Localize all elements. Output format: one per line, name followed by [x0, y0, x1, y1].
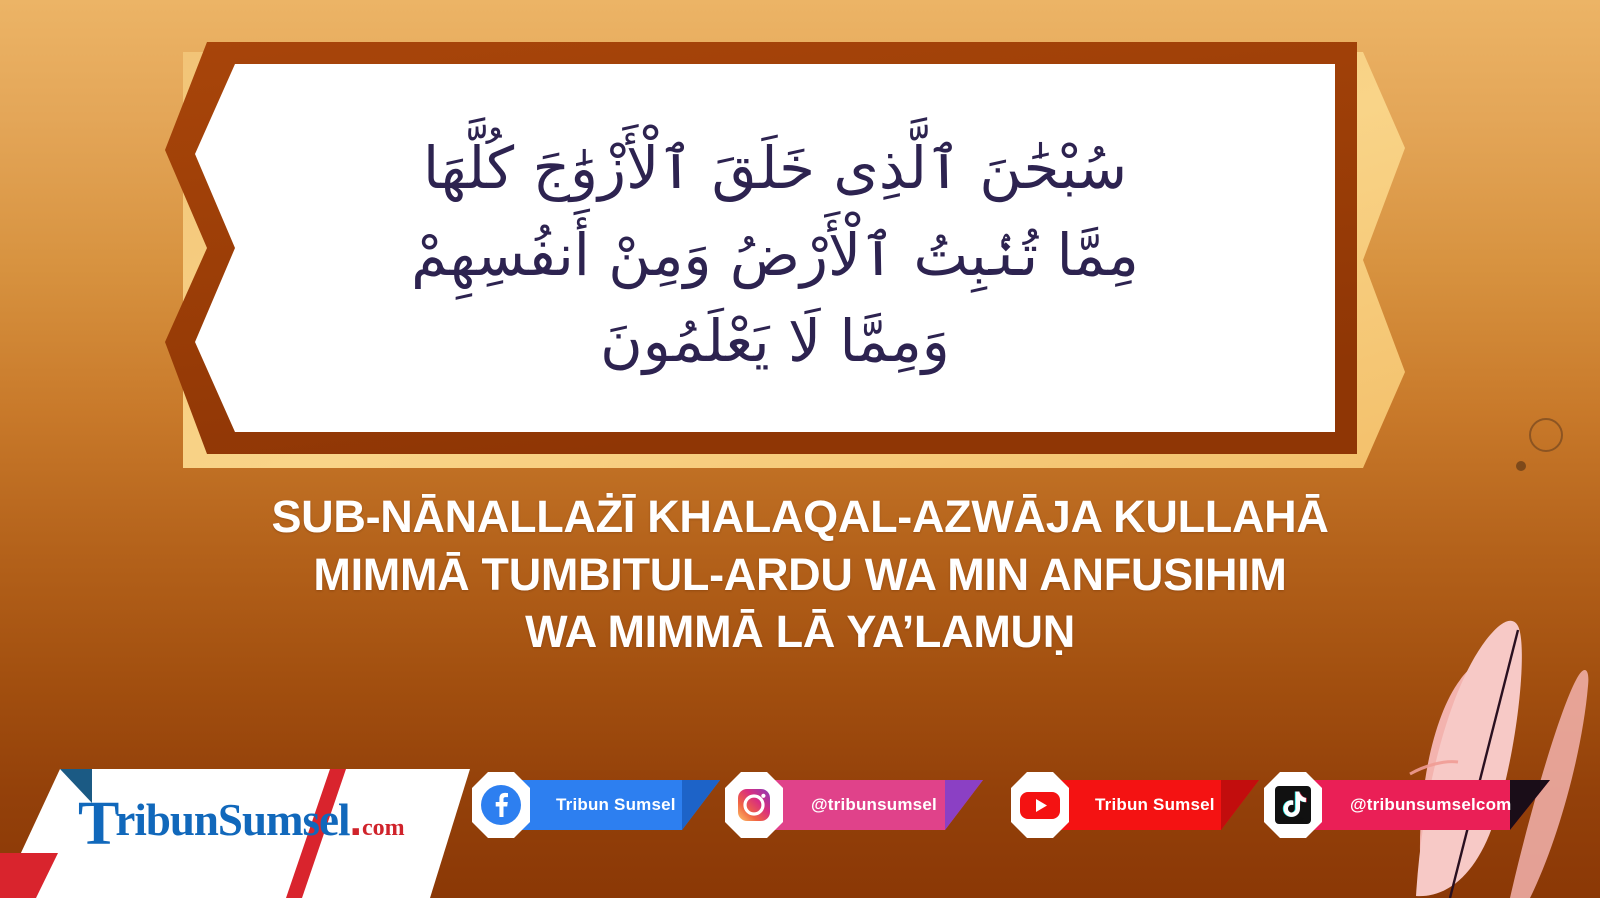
logo-word-one: ribun: [115, 798, 218, 843]
transliteration-line-1: SUB-NĀNALLAŻĪ KHALAQAL-AZWĀJA KULLAHĀ: [0, 488, 1600, 546]
transliteration-block: SUB-NĀNALLAŻĪ KHALAQAL-AZWĀJA KULLAHĀ MI…: [0, 488, 1600, 661]
social-badge-facebook[interactable]: Tribun Sumsel: [470, 770, 720, 840]
tiktok-caption: TikTok: [1282, 818, 1304, 825]
facebook-icon[interactable]: [470, 770, 532, 840]
ayah-arabic-block: سُبْحَٰنَ ٱلَّذِى خَلَقَ ٱلْأَزْوَٰجَ كُ…: [225, 60, 1325, 450]
ayah-frame: سُبْحَٰنَ ٱلَّذِى خَلَقَ ٱلْأَزْوَٰجَ كُ…: [165, 42, 1405, 462]
logo-suffix: com: [362, 815, 405, 842]
ayah-line-1: سُبْحَٰنَ ٱلَّذِى خَلَقَ ٱلْأَزْوَٰجَ كُ…: [423, 127, 1127, 209]
decorative-circle-outline: [1529, 418, 1563, 452]
instagram-label: @tribunsumsel: [811, 795, 937, 815]
tiktok-label: @tribunsumselcom: [1350, 795, 1511, 815]
ayah-line-2: مِمَّا تُنۢبِتُ ٱلْأَرْضُ وَمِنْ أَنفُسِ…: [411, 214, 1139, 296]
tiktok-icon[interactable]: TikTok: [1262, 770, 1324, 840]
facebook-label: Tribun Sumsel: [556, 795, 676, 815]
ayah-line-3: وَمِمَّا لَا يَعْلَمُونَ: [600, 300, 950, 382]
decorative-dot: [1516, 461, 1526, 471]
instagram-icon[interactable]: [723, 770, 785, 840]
social-badge-youtube[interactable]: Tribun Sumsel: [1009, 770, 1259, 840]
social-badges: Tribun Sumsel @tribunsumsel: [470, 770, 1550, 852]
transliteration-line-2: MIMMĀ TUMBITUL-ARDU WA MIN ANFUSIHIM: [0, 546, 1600, 604]
youtube-icon[interactable]: [1009, 770, 1071, 840]
poster-canvas: سُبْحَٰنَ ٱلَّذِى خَلَقَ ٱلْأَزْوَٰجَ كُ…: [0, 0, 1600, 898]
logo-word-two: Sumsel: [218, 798, 350, 843]
logo-dot: .: [349, 794, 362, 846]
logo-drop-cap: T: [78, 800, 119, 850]
social-badge-instagram[interactable]: @tribunsumsel: [723, 770, 983, 840]
transliteration-line-3: WA MIMMĀ LĀ YA’LAMUṆ: [0, 603, 1600, 661]
social-badge-tiktok[interactable]: @tribunsumselcom TikTok: [1262, 770, 1550, 840]
youtube-label: Tribun Sumsel: [1095, 795, 1215, 815]
logo-wordmark: TribunSumsel.com: [78, 790, 408, 850]
